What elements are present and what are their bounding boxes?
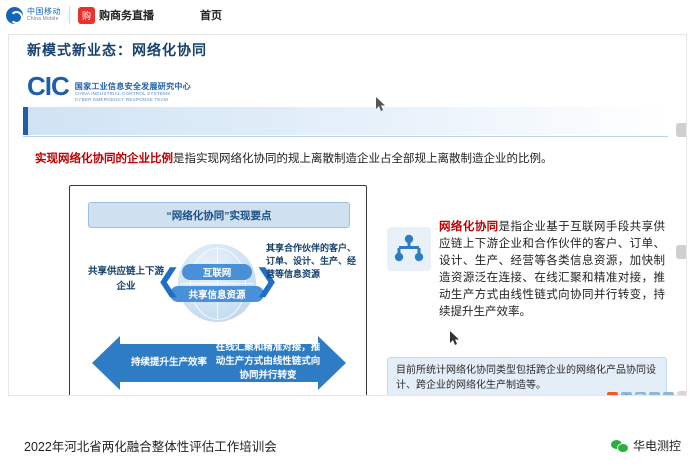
globe-graphic xyxy=(178,244,256,322)
shop-badge-icon: 购 xyxy=(78,7,95,24)
edge-tab-top[interactable] xyxy=(676,123,686,137)
center-pill-internet: 互联网 xyxy=(182,264,252,280)
slide-title: 新模式新业态：网络化协同 xyxy=(27,40,207,60)
right-paragraph: 网络化协同是指企业基于互联网手段共享供应链上下游企业和合作伙伴的客户、订单、设计… xyxy=(439,219,665,321)
double-arrow-banner: 持续提升生产效率 在线汇聚和精准对接，推动生产方式由线性链式向协同并行转变 xyxy=(92,336,346,390)
ime-logo-icon[interactable]: S xyxy=(607,392,618,397)
globe-ring xyxy=(190,248,246,320)
organization-logo: CIC 国家工业信息安全发展研究中心 CHINA INDUSTRIAL CONT… xyxy=(27,71,191,102)
diagram-header: “网络化协同”实现要点 xyxy=(88,202,350,228)
mouse-cursor-main xyxy=(450,331,461,346)
edge-tab-middle[interactable] xyxy=(676,245,686,259)
carrier-name-en: China Mobile xyxy=(27,17,61,22)
ime-panel-icon[interactable]: 田 xyxy=(635,392,646,397)
top-navigation-bar: 中国移动 China Mobile 购 购商务直播 首页 xyxy=(0,0,693,31)
ime-toolbar[interactable]: S 中 田 ⌨ ☰ xyxy=(607,387,677,396)
title-accent-bar xyxy=(23,107,28,135)
network-nodes-icon xyxy=(387,227,431,271)
china-mobile-mark-icon xyxy=(6,7,23,24)
mouse-cursor-top xyxy=(376,97,387,112)
arrow-mid-text: 在线汇聚和精准对接，推动生产方式由线性链式向协同并行转变 xyxy=(212,341,324,383)
org-line3: CYBER EMERGENCY RESPONSE TEAM xyxy=(75,97,191,102)
center-pill-shared-resources: 共享信息资源 xyxy=(170,286,264,302)
slide-title-band xyxy=(23,107,668,135)
wechat-account-name: 华电测控 xyxy=(633,437,681,454)
shop-live-brand[interactable]: 购 购商务直播 xyxy=(78,7,154,24)
ime-menu-icon[interactable]: ☰ xyxy=(663,392,674,397)
slide-corner-button[interactable] xyxy=(677,391,687,396)
diagram-card: “网络化协同”实现要点 互联网 共享信息资源 ❮ ❯ 共享供应链上下游企业 其享… xyxy=(69,185,367,396)
ime-keyboard-icon[interactable]: ⌨ xyxy=(649,392,661,397)
ime-mode-icon[interactable]: 中 xyxy=(621,392,632,397)
diagram-left-label: 共享供应链上下游企业 xyxy=(84,264,168,294)
diagram-header-label: “网络化协同”实现要点 xyxy=(167,208,272,223)
title-underline xyxy=(23,136,668,137)
arrow-left-head xyxy=(92,336,120,390)
page-footer: 2022年河北省两化融合整体性评估工作培训会 华电测控 xyxy=(0,424,693,473)
lead-rest: 是指实现网络化协同的规上离散制造企业占全部规上离散制造企业的比例。 xyxy=(173,153,553,165)
nav-item-home[interactable]: 首页 xyxy=(200,7,222,23)
divider xyxy=(69,6,70,24)
right-paragraph-body: 是指企业基于互联网手段共享供应链上下游企业和合作伙伴的客户、订单、设计、生产、经… xyxy=(439,221,665,318)
shop-live-label: 购商务直播 xyxy=(99,7,154,23)
china-mobile-logo[interactable]: 中国移动 China Mobile xyxy=(6,7,61,24)
diagram-right-label: 其享合作伙伴的客户、订单、设计、生产、经营等信息资源 xyxy=(266,242,358,281)
right-paragraph-highlight: 网络化协同 xyxy=(439,221,499,233)
arrow-left-text: 持续提升生产效率 xyxy=(126,354,212,368)
wechat-account[interactable]: 华电测控 xyxy=(611,437,681,454)
event-title: 2022年河北省两化融合整体性评估工作培训会 xyxy=(24,436,277,455)
presentation-slide: CIC 国家工业信息安全发展研究中心 CHINA INDUSTRIAL CONT… xyxy=(8,34,687,396)
live-stream-page: 中国移动 China Mobile 购 购商务直播 首页 CIC 国家工业信息安… xyxy=(0,0,693,473)
org-logo-letters: CIC xyxy=(27,71,69,102)
video-player[interactable]: CIC 国家工业信息安全发展研究中心 CHINA INDUSTRIAL CONT… xyxy=(0,30,693,424)
org-line1: 国家工业信息安全发展研究中心 xyxy=(75,82,191,91)
wechat-icon xyxy=(611,439,628,453)
lead-paragraph: 实现网络化协同的企业比例是指实现网络化协同的规上离散制造企业占全部规上离散制造企… xyxy=(35,151,655,167)
lead-highlight: 实现网络化协同的企业比例 xyxy=(35,153,173,165)
